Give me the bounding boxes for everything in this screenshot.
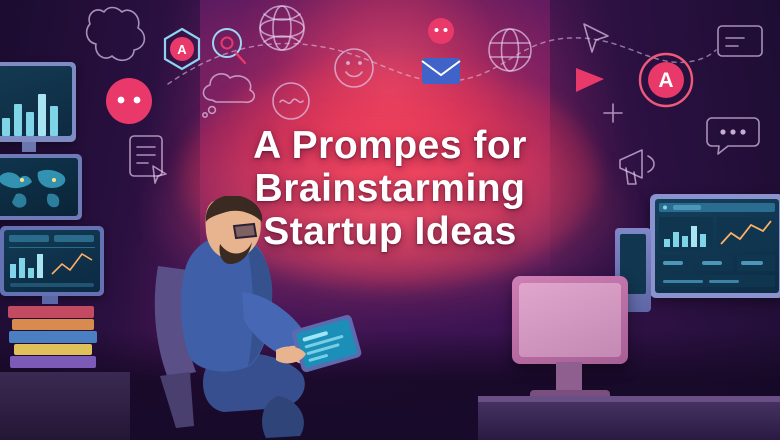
dots-face-circle [100,72,158,130]
magnifier-icon [205,24,249,68]
doodle-icon-layer: A [0,0,780,440]
squiggle-face-circle [268,78,314,124]
window-card-icon [712,18,770,66]
dots-face-circle [424,14,458,48]
cursor-arrow-icon [576,18,616,62]
svg-text:A: A [177,42,187,57]
blob-splat-outline [82,4,152,66]
smiley-face-circle [330,44,378,92]
globe-wireframe-icon [252,0,312,58]
play-triangle-icon [568,62,610,100]
chat-bubble-ellipsis-icon [702,108,766,160]
envelope-icon [418,52,464,90]
document-cursor-icon [122,130,178,188]
illustration-canvas: A [0,0,780,440]
plus-sparkle-icon [600,100,626,126]
globe-grid-icon [482,22,538,78]
thought-bubble-outline [196,66,262,118]
megaphone-icon [610,140,668,192]
svg-text:A: A [658,69,673,92]
circle-badge-letter-a: A [634,48,698,112]
